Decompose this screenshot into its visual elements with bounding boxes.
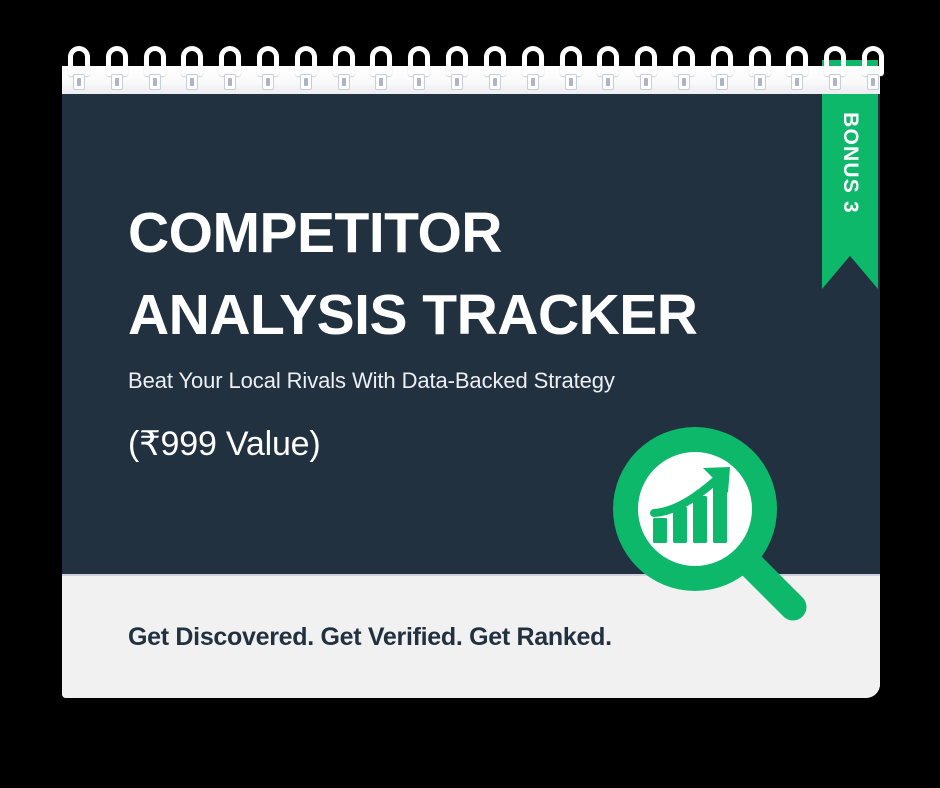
cover-page: COMPETITOR ANALYSIS TRACKER Beat Your Lo… [62, 82, 880, 698]
binding-ring [673, 46, 695, 86]
binding-ring [824, 46, 846, 86]
binding-ring-clip [262, 74, 274, 90]
binding-ring [484, 46, 506, 86]
page-title-line-2: ANALYSIS TRACKER [128, 274, 697, 356]
binding-ring-clip [451, 74, 463, 90]
bonus-ribbon: BONUS 3 [822, 60, 878, 289]
binding-ring-clip [640, 74, 652, 90]
binding-ring-loop [560, 46, 582, 76]
binding-ring-clip [565, 74, 577, 90]
binding-ring-loop [597, 46, 619, 76]
binding-ring-clip [375, 74, 387, 90]
binding-ring-loop [106, 46, 128, 76]
binding-ring-clip [678, 74, 690, 90]
notebook-cover: COMPETITOR ANALYSIS TRACKER Beat Your Lo… [62, 46, 880, 698]
binding-ring [408, 46, 430, 86]
binding-ring [219, 46, 241, 86]
binding-ring-loop [370, 46, 392, 76]
binding-ring-clip [186, 74, 198, 90]
binding-ring-clip [149, 74, 161, 90]
binding-ring [560, 46, 582, 86]
binding-ring-clip [489, 74, 501, 90]
binding-ring-loop [257, 46, 279, 76]
binding-ring [144, 46, 166, 86]
binding-ring-loop [219, 46, 241, 76]
binding-ring [333, 46, 355, 86]
binding-ring-clip [111, 74, 123, 90]
binding-ring-clip [867, 74, 879, 90]
binding-ring-clip [527, 74, 539, 90]
binding-ring-loop [295, 46, 317, 76]
binding-ring-loop [786, 46, 808, 76]
binding-ring-clip [829, 74, 841, 90]
binding-ring-loop [711, 46, 733, 76]
binding-ring-loop [408, 46, 430, 76]
canvas: COMPETITOR ANALYSIS TRACKER Beat Your Lo… [0, 0, 940, 788]
binding-ring-loop [446, 46, 468, 76]
binding-ring-loop [522, 46, 544, 76]
page-title-line-1: COMPETITOR [128, 192, 697, 274]
binding-ring-loop [181, 46, 203, 76]
magnifier-growth-chart-icon [610, 424, 820, 634]
binding-ring [68, 46, 90, 86]
binding-ring-loop [862, 46, 884, 76]
binding-ring-clip [300, 74, 312, 90]
binding-ring [597, 46, 619, 86]
binding-ring-loop [333, 46, 355, 76]
binding-ring [522, 46, 544, 86]
binding-ring [862, 46, 884, 86]
binding-ring-loop [673, 46, 695, 76]
binding-ring-loop [635, 46, 657, 76]
binding-ring [635, 46, 657, 86]
binding-ring-clip [791, 74, 803, 90]
bonus-ribbon-label: BONUS 3 [838, 68, 862, 258]
binding-ring-loop [144, 46, 166, 76]
binding-ring-loop [824, 46, 846, 76]
spiral-binding [62, 46, 880, 94]
binding-ring-clip [716, 74, 728, 90]
binding-ring-clip [73, 74, 85, 90]
binding-ring-clip [224, 74, 236, 90]
binding-ring [181, 46, 203, 86]
binding-ring [295, 46, 317, 86]
binding-ring-clip [602, 74, 614, 90]
binding-ring-clip [338, 74, 350, 90]
binding-ring [711, 46, 733, 86]
binding-ring [257, 46, 279, 86]
binding-ring-loop [484, 46, 506, 76]
binding-ring [749, 46, 771, 86]
binding-ring-loop [749, 46, 771, 76]
binding-ring [106, 46, 128, 86]
binding-ring-clip [754, 74, 766, 90]
binding-ring [370, 46, 392, 86]
footer-tagline: Get Discovered. Get Verified. Get Ranked… [128, 623, 612, 652]
binding-ring [446, 46, 468, 86]
binding-ring [786, 46, 808, 86]
binding-ring-loop [68, 46, 90, 76]
binding-ring-clip [413, 74, 425, 90]
page-subtitle: Beat Your Local Rivals With Data-Backed … [128, 368, 697, 394]
